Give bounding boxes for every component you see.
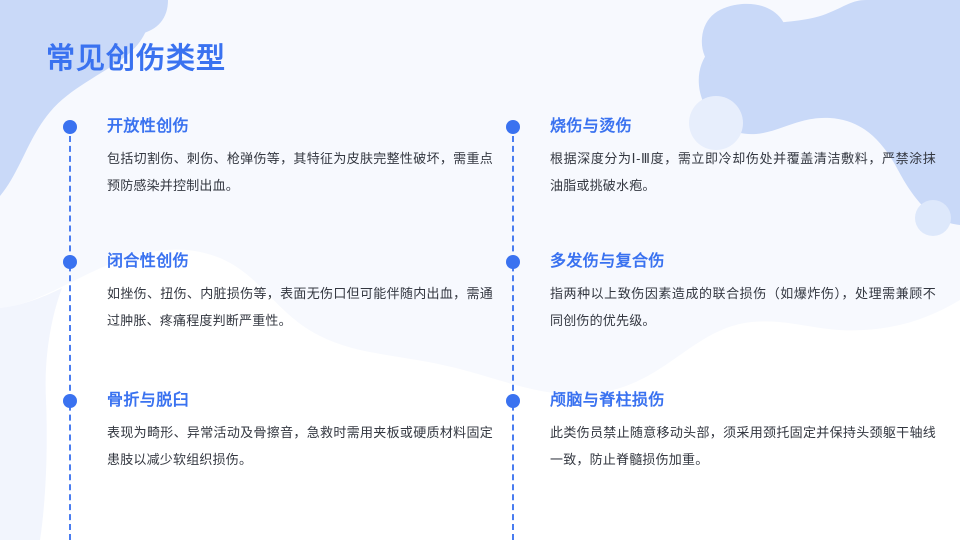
list-item-heading: 烧伤与烫伤 [550,116,936,138]
list-item-description: 根据深度分为Ⅰ-Ⅲ度，需立即冷却伤处并覆盖清洁敷料，严禁涂抹油脂或挑破水疱。 [550,145,936,199]
list-item[interactable]: 闭合性创伤 如挫伤、扭伤、内脏损伤等，表面无伤口但可能伴随内出血，需通过肿胀、疼… [63,251,493,334]
bullet-dot-icon [506,255,520,269]
list-item[interactable]: 烧伤与烫伤 根据深度分为Ⅰ-Ⅲ度，需立即冷却伤处并覆盖清洁敷料，严禁涂抹油脂或挑… [506,116,936,199]
bullet-dot-icon [63,255,77,269]
list-item[interactable]: 颅脑与脊柱损伤 此类伤员禁止随意移动头部，须采用颈托固定并保持头颈躯干轴线一致，… [506,390,936,473]
bottom-left-tint [0,288,62,540]
list-item-description: 指两种以上致伤因素造成的联合损伤（如爆炸伤），处理需兼顾不同创伤的优先级。 [550,280,936,334]
list-item-description: 此类伤员禁止随意移动头部，须采用颈托固定并保持头颈躯干轴线一致，防止脊髓损伤加重… [550,419,936,473]
list-item[interactable]: 骨折与脱臼 表现为畸形、异常活动及骨擦音，急救时需用夹板或硬质材料固定患肢以减少… [63,390,493,473]
list-item-heading: 闭合性创伤 [107,251,493,273]
list-item-heading: 开放性创伤 [107,116,493,138]
list-item-body: 开放性创伤 包括切割伤、刺伤、枪弹伤等，其特征为皮肤完整性破坏，需重点预防感染并… [107,116,493,199]
slide-root: 常见创伤类型 开放性创伤 包括切割伤、刺伤、枪弹伤等，其特征为皮肤完整性破坏，需… [0,0,960,540]
bullet-dot-icon [63,394,77,408]
right-column: 烧伤与烫伤 根据深度分为Ⅰ-Ⅲ度，需立即冷却伤处并覆盖清洁敷料，严禁涂抹油脂或挑… [506,0,936,540]
list-item-body: 闭合性创伤 如挫伤、扭伤、内脏损伤等，表面无伤口但可能伴随内出血，需通过肿胀、疼… [107,251,493,334]
list-item-body: 多发伤与复合伤 指两种以上致伤因素造成的联合损伤（如爆炸伤），处理需兼顾不同创伤… [550,251,936,334]
list-item-body: 颅脑与脊柱损伤 此类伤员禁止随意移动头部，须采用颈托固定并保持头颈躯干轴线一致，… [550,390,936,473]
list-item-body: 骨折与脱臼 表现为畸形、异常活动及骨擦音，急救时需用夹板或硬质材料固定患肢以减少… [107,390,493,473]
list-item-heading: 颅脑与脊柱损伤 [550,390,936,412]
list-item-body: 烧伤与烫伤 根据深度分为Ⅰ-Ⅲ度，需立即冷却伤处并覆盖清洁敷料，严禁涂抹油脂或挑… [550,116,936,199]
list-item-description: 如挫伤、扭伤、内脏损伤等，表面无伤口但可能伴随内出血，需通过肿胀、疼痛程度判断严… [107,280,493,334]
list-item[interactable]: 开放性创伤 包括切割伤、刺伤、枪弹伤等，其特征为皮肤完整性破坏，需重点预防感染并… [63,116,493,199]
list-item[interactable]: 多发伤与复合伤 指两种以上致伤因素造成的联合损伤（如爆炸伤），处理需兼顾不同创伤… [506,251,936,334]
list-item-description: 表现为畸形、异常活动及骨擦音，急救时需用夹板或硬质材料固定患肢以减少软组织损伤。 [107,419,493,473]
left-column: 开放性创伤 包括切割伤、刺伤、枪弹伤等，其特征为皮肤完整性破坏，需重点预防感染并… [63,0,493,540]
bullet-dot-icon [506,394,520,408]
bullet-dot-icon [63,120,77,134]
list-item-description: 包括切割伤、刺伤、枪弹伤等，其特征为皮肤完整性破坏，需重点预防感染并控制出血。 [107,145,493,199]
list-item-heading: 多发伤与复合伤 [550,251,936,273]
bullet-dot-icon [506,120,520,134]
list-item-heading: 骨折与脱臼 [107,390,493,412]
